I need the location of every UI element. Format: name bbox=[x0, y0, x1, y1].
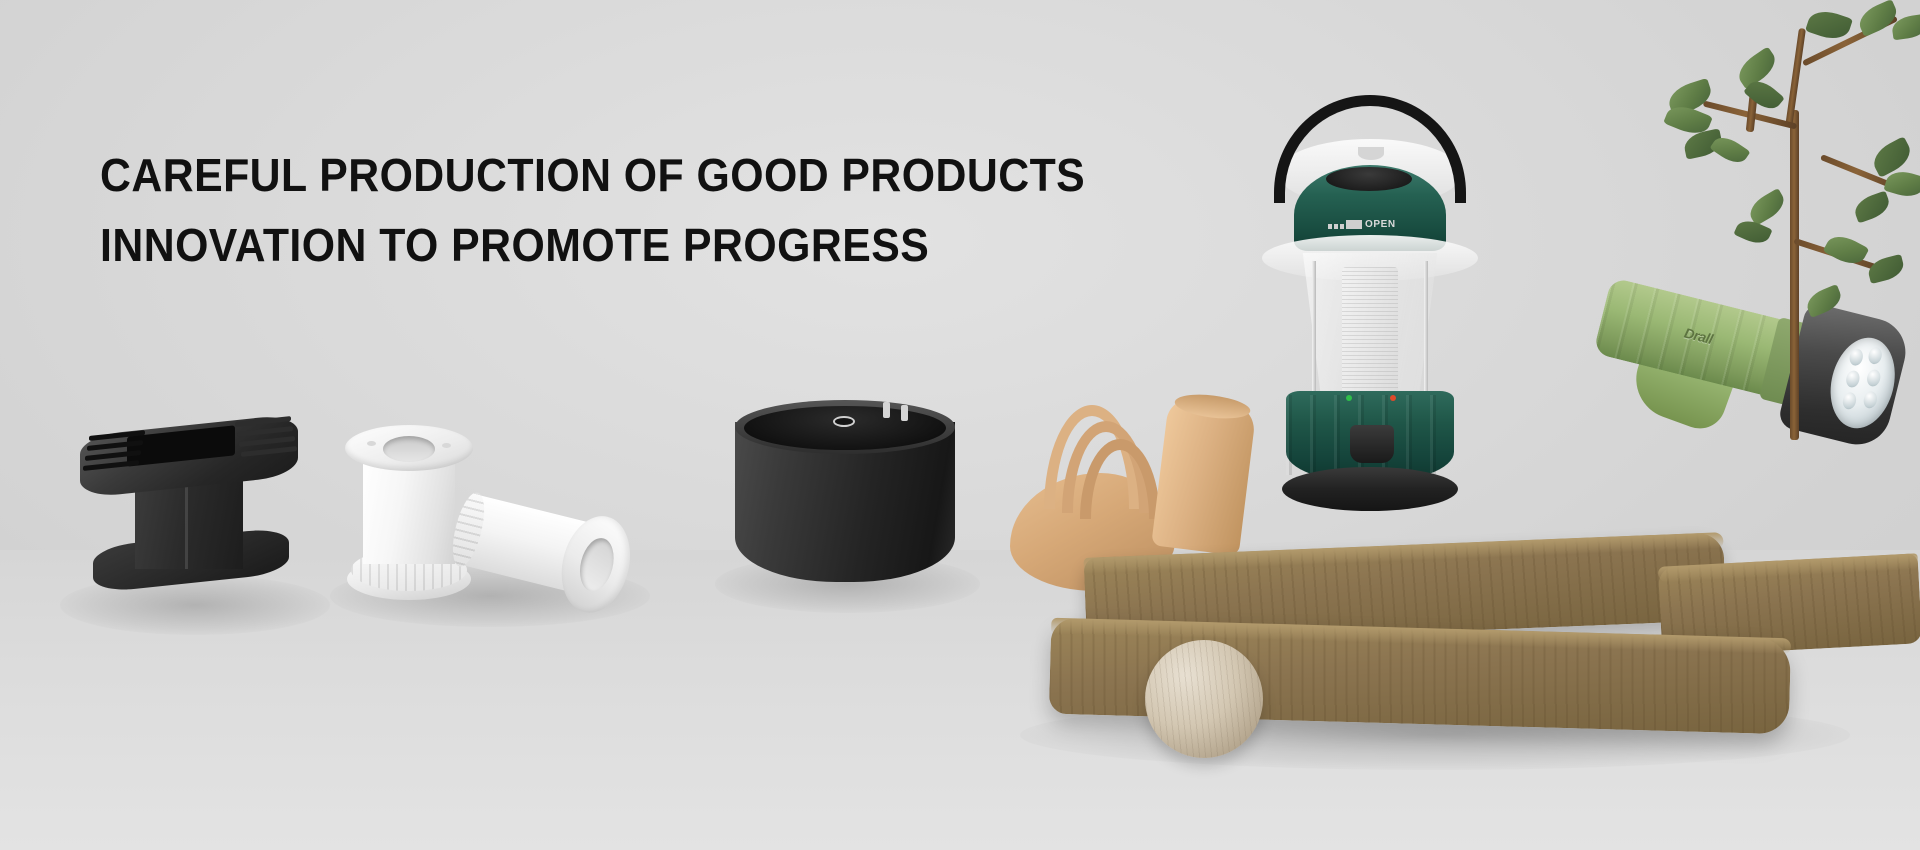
prop-stone-sphere bbox=[1145, 640, 1263, 758]
housing-interior bbox=[744, 406, 946, 450]
housing-notch bbox=[901, 405, 908, 421]
lantern-rubber-foot bbox=[1282, 467, 1458, 511]
bobbin-seam bbox=[185, 477, 188, 569]
lantern-cap-top bbox=[1326, 167, 1412, 191]
lantern-diffuser bbox=[1342, 267, 1398, 397]
leaf bbox=[1745, 188, 1789, 226]
lantern-handle-notch bbox=[1358, 147, 1384, 160]
spool-barrel bbox=[363, 459, 455, 564]
leaf bbox=[1851, 191, 1892, 224]
housing-notch bbox=[883, 402, 890, 418]
leaf bbox=[1866, 254, 1906, 284]
sculpture-tube bbox=[1151, 396, 1257, 556]
lantern-led-green bbox=[1346, 395, 1352, 401]
open-label-text: OPEN bbox=[1365, 219, 1396, 230]
spool-notch bbox=[442, 443, 451, 448]
spool-bore bbox=[383, 436, 435, 462]
headline-block: CAREFUL PRODUCTION OF GOOD PRODUCTS INNO… bbox=[100, 140, 1159, 280]
leaf bbox=[1803, 284, 1845, 318]
headline-line-1: CAREFUL PRODUCTION OF GOOD PRODUCTS bbox=[100, 140, 1085, 210]
open-indicator-bars bbox=[1328, 220, 1362, 229]
prop-plant-branch bbox=[1640, 0, 1920, 470]
lantern-rod bbox=[1424, 261, 1428, 403]
lantern-open-label: OPEN bbox=[1328, 219, 1396, 230]
product-hero-banner: CAREFUL PRODUCTION OF GOOD PRODUCTS INNO… bbox=[0, 0, 1920, 850]
housing-center-post bbox=[833, 416, 855, 427]
leaf bbox=[1868, 136, 1916, 178]
product-black-bobbin bbox=[75, 385, 315, 615]
leaf bbox=[1805, 6, 1853, 44]
branch-main bbox=[1790, 110, 1799, 440]
lantern-led-red bbox=[1390, 395, 1396, 401]
product-black-housing bbox=[735, 400, 955, 605]
product-camping-lantern: OPEN bbox=[1250, 95, 1490, 495]
headline-line-2: INNOVATION TO PROMOTE PROGRESS bbox=[100, 210, 1085, 280]
lantern-power-switch[interactable] bbox=[1350, 425, 1394, 463]
spool-notch bbox=[367, 441, 376, 446]
lantern-rod bbox=[1312, 261, 1316, 403]
